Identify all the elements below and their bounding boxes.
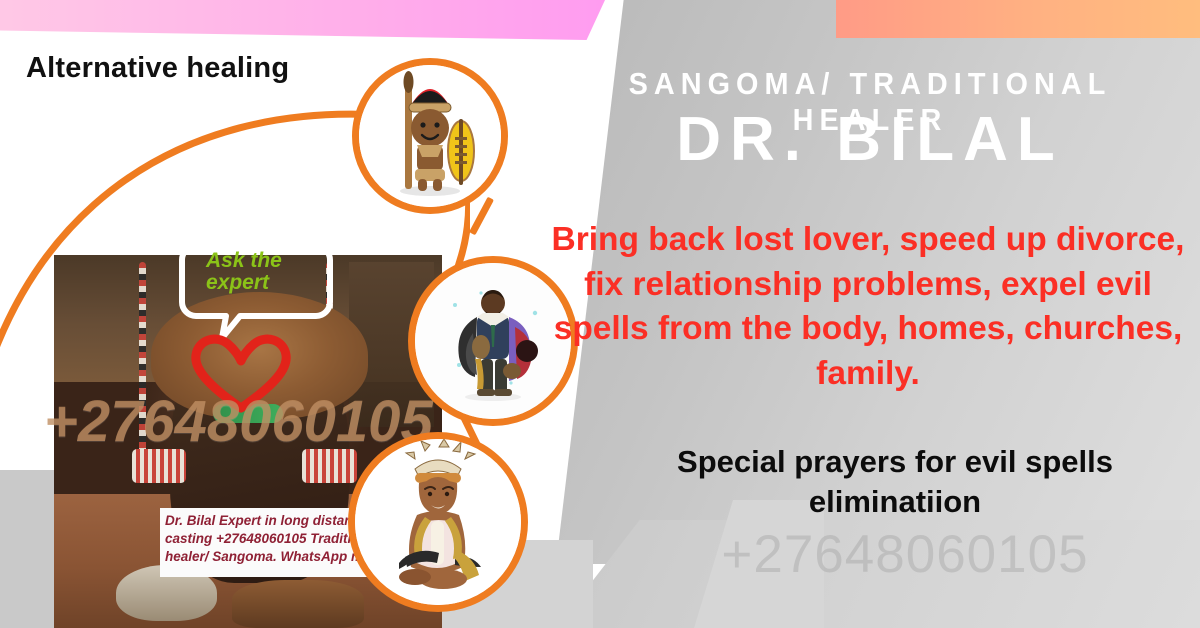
poster-canvas: Alternative healing Ask the expert +2764… xyxy=(0,0,1200,628)
caption-line-1: Dr. Bilal Expert in long distan xyxy=(165,512,375,530)
page-title: DR. BILAL xyxy=(560,104,1180,175)
services-description: Bring back lost lover, speed up divorce,… xyxy=(548,218,1188,396)
photo-caption-block: Dr. Bilal Expert in long distan casting … xyxy=(160,508,375,577)
zulu-warrior-illustration xyxy=(359,65,501,207)
badge-kneeling-healer xyxy=(348,432,528,612)
page-eyebrow: Alternative healing xyxy=(26,52,289,85)
special-prayers-subheading: Special prayers for evil spells eliminat… xyxy=(600,442,1190,523)
caption-line-2: casting +27648060105 Traditio xyxy=(165,530,375,548)
photo-ritual-objects xyxy=(232,580,364,628)
phone-number-watermark: +27648060105 xyxy=(620,524,1190,585)
caption-line-3: healer/ Sangoma. WhatsApp me xyxy=(165,548,375,566)
speech-bubble-label: Ask the expert xyxy=(206,250,316,294)
badge-zulu-warrior xyxy=(352,58,508,214)
kneeling-healer-illustration xyxy=(355,439,521,605)
top-orange-gradient-bar xyxy=(836,0,1200,38)
